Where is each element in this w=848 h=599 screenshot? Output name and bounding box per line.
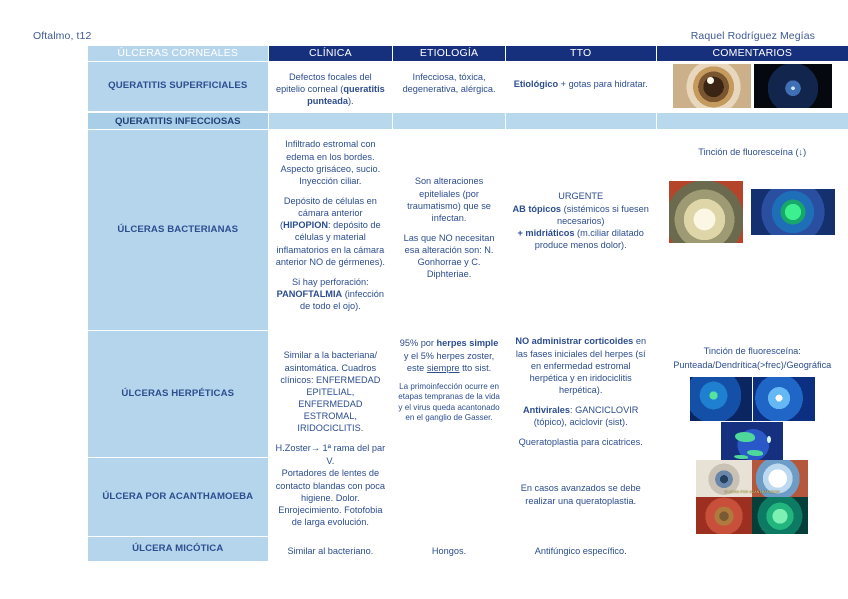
clinica-paragraph-1: Infiltrado estromal con edema en los bor… (274, 138, 388, 187)
etiologia-paragraph-2: Las que NO necesitan esa alteración son:… (398, 232, 500, 281)
row-label-ulcera-acanthamoeba: ÚLCERA POR ACANTHAMOEBA (88, 458, 268, 536)
tto-line-2: AB tópicos (sistémicos si fuesen necesar… (511, 203, 651, 227)
eye-photo-quadrant-3 (696, 497, 752, 534)
column-header-clinica: CLÍNICA (268, 46, 393, 61)
etiologia-paragraph-1: 95% por herpes simple y el 5% herpes zos… (398, 337, 500, 373)
etiologia-p1-a: 95% por (400, 338, 437, 348)
table-row: QUERATITIS SUPERFICIALES Defectos focale… (88, 62, 848, 111)
clinica-text-c: ). (348, 96, 354, 106)
column-header-ulceras: ÚLCERAS CORNEALES (88, 46, 268, 61)
clinica-paragraph-2: Depósito de células en cámara anterior (… (274, 195, 388, 268)
cell-etiologia: 95% por herpes simple y el 5% herpes zos… (393, 331, 505, 457)
tto-p1-bold: NO administrar corticoides (515, 336, 633, 346)
cell-clinica: Defectos focales del epitelio corneal (q… (269, 62, 393, 111)
tto-paragraph-1: NO administrar corticoides en las fases … (511, 335, 651, 396)
cell-etiologia: Son alteraciones epiteliales (por trauma… (393, 130, 505, 330)
tto-line-2-rest: (sistémicos si fuesen necesarios) (557, 204, 649, 226)
column-header-etiologia: ETIOLOGÍA (392, 46, 505, 61)
section-cell-comentarios (657, 113, 848, 129)
eye-photo-corneal-ulcer (669, 181, 743, 243)
cell-etiologia: Hongos. (393, 537, 505, 561)
tto-line-2-bold: AB tópicos (513, 204, 562, 214)
cell-comentarios: Tinción de fluoresceína (↓) (657, 130, 848, 330)
section-cell-tto (506, 113, 656, 129)
tto-text-rest: + gotas para hidratar. (558, 79, 648, 89)
running-head-left: Oftalmo, t12 (33, 30, 91, 42)
cell-etiologia (393, 458, 505, 536)
tto-line-1: URGENTE (511, 190, 651, 202)
row-label-ulceras-herpeticas: ÚLCERAS HERPÉTICAS (88, 331, 268, 457)
eye-photo-acanthamoeba-grid: ÚLCERA POR ACANTHAMOEBA (696, 460, 808, 534)
table-header-row: ÚLCERAS CORNEALES CLÍNICA ETIOLOGÍA TTO … (88, 46, 848, 61)
table-row: ÚLCERAS HERPÉTICAS Similar a la bacteria… (88, 331, 848, 457)
cell-tto: Antifúngico específico. (506, 537, 656, 561)
corneal-ulcers-table: ÚLCERAS CORNEALES CLÍNICA ETIOLOGÍA TTO … (88, 46, 848, 561)
tto-p2-bold: Antivirales (523, 405, 570, 415)
row-label-ulceras-bacterianas: ÚLCERAS BACTERIANAS (88, 130, 268, 330)
cell-comentarios: Tinción de fluoresceína: Punteada/Dendrí… (657, 331, 848, 457)
row-label-ulcera-micotica: ÚLCERA MICÓTICA (88, 537, 268, 561)
etiologia-p1-e: tto sist. (460, 363, 492, 373)
etiologia-paragraph-2: La primoinfección ocurre en etapas tempr… (398, 382, 500, 424)
tto-text-bold: Etiológico (514, 79, 558, 89)
clinica-paragraph-3: Si hay perforación: PANOFTALMIA (infecci… (274, 276, 388, 312)
image-overlay-label: ÚLCERA POR ACANTHAMOEBA (696, 491, 808, 495)
row-label-queratitis-superficiales: QUERATITIS SUPERFICIALES (88, 62, 268, 111)
cell-comentarios: ÚLCERA POR ACANTHAMOEBA (657, 458, 848, 536)
etiologia-p1-underlined: siempre (427, 363, 460, 373)
tto-paragraph-3: Queratoplastia para cicatrices. (511, 436, 651, 448)
eye-photo-fluorescein-stain (751, 189, 835, 235)
eye-photo-dendritic-stain (753, 377, 815, 421)
running-head: Oftalmo, t12 Raquel Rodríguez Megías (0, 30, 848, 46)
section-cell-clinica (269, 113, 393, 129)
tto-line-3: + midriáticos (m.ciliar dilatado produce… (511, 227, 651, 251)
etiologia-p1-bold: herpes simple (437, 338, 499, 348)
image-group (662, 377, 843, 466)
row-divider (88, 111, 848, 112)
cell-clinica: Similar al bacteriano. (269, 537, 393, 561)
cell-tto: Etiológico + gotas para hidratar. (506, 62, 656, 111)
cell-clinica: Portadores de lentes de contacto blandas… (269, 458, 393, 536)
column-header-tto: TTO (505, 46, 656, 61)
clinica-p2-bold: HIPOPION (283, 220, 328, 230)
image-group: ÚLCERA POR ACANTHAMOEBA (662, 460, 843, 534)
tto-line-3-bold: + midriáticos (518, 228, 575, 238)
document-page: Oftalmo, t12 Raquel Rodríguez Megías ÚLC… (0, 0, 848, 599)
image-group (662, 64, 843, 108)
column-header-comentarios: COMENTARIOS (656, 46, 848, 61)
cell-tto: En casos avanzados se debe realizar una … (506, 458, 656, 536)
comentarios-caption-line-2: Punteada/Dendrítica(>frec)/Geográfica (662, 359, 843, 371)
cell-comentarios (657, 537, 848, 561)
clinica-paragraph-1: Similar a la bacteriana/ asintomática. C… (274, 349, 388, 434)
eye-photo-quadrant-4 (752, 497, 808, 534)
table-row: ÚLCERA MICÓTICA Similar al bacteriano. H… (88, 537, 848, 561)
running-head-right: Raquel Rodríguez Megías (691, 30, 815, 42)
cell-clinica: Similar a la bacteriana/ asintomática. C… (269, 331, 393, 457)
section-row-queratitis-infecciosas: QUERATITIS INFECCIOSAS (88, 113, 848, 129)
cell-clinica: Infiltrado estromal con edema en los bor… (269, 130, 393, 330)
comentarios-caption-line-1: Tinción de fluoresceína: (662, 345, 843, 357)
section-cell-etiologia (393, 113, 505, 129)
cell-etiologia: Infecciosa, tóxica, degenerativa, alérgi… (393, 62, 505, 111)
cell-tto: NO administrar corticoides en las fases … (506, 331, 656, 457)
eye-photo-geographic-stain (721, 422, 783, 466)
clinica-p3-bold: PANOFTALMIA (277, 289, 343, 299)
eye-photo-punctate-stain (690, 377, 752, 421)
tto-paragraph-2: Antivirales: GANCICLOVIR (tópico), acicl… (511, 404, 651, 428)
comentarios-caption: Tinción de fluoresceína (↓) (662, 146, 843, 158)
image-group (662, 181, 843, 243)
section-label: QUERATITIS INFECCIOSAS (88, 113, 268, 129)
cell-comentarios (657, 62, 848, 111)
clinica-p3-a: Si hay perforación: (292, 277, 369, 287)
cell-tto: URGENTE AB tópicos (sistémicos si fuesen… (506, 130, 656, 330)
table-row: ÚLCERAS BACTERIANAS Infiltrado estromal … (88, 130, 848, 330)
etiologia-paragraph-1: Son alteraciones epiteliales (por trauma… (398, 175, 500, 224)
table-row: ÚLCERA POR ACANTHAMOEBA Portadores de le… (88, 458, 848, 536)
eye-photo-slit-lamp-dark (754, 64, 832, 108)
eye-photo-brown-iris (673, 64, 751, 108)
